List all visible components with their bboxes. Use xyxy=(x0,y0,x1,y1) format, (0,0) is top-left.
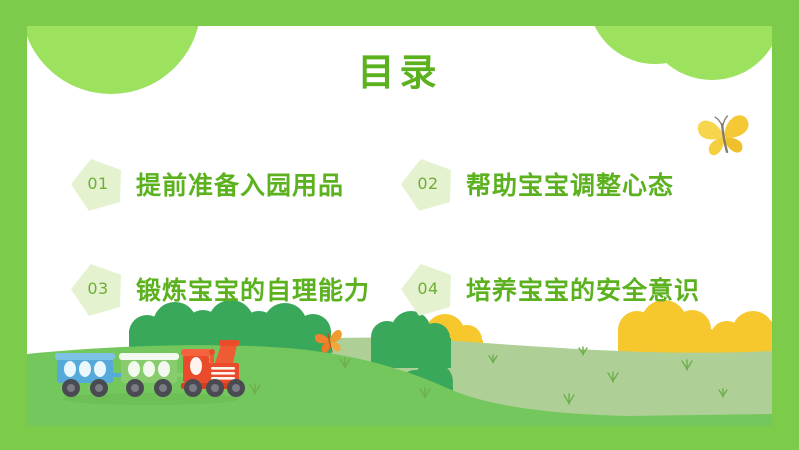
toc-item-01[interactable]: 01 提前准备入园用品 xyxy=(72,131,402,236)
toc-badge-02: 02 xyxy=(402,158,454,210)
toc-number-01: 01 xyxy=(87,174,108,193)
frame-border-top xyxy=(0,0,799,26)
frame-border-bottom xyxy=(0,426,799,450)
train-car-blue xyxy=(55,353,123,383)
toc-label-02: 帮助宝宝调整心态 xyxy=(466,166,674,202)
toc-item-04[interactable]: 04 培养宝宝的安全意识 xyxy=(402,236,737,341)
toc-number-04: 04 xyxy=(417,279,438,298)
slide-content-area: 目录 01 提前准备入园用品 xyxy=(27,26,772,426)
frame-border-right xyxy=(772,0,799,450)
train-car-green xyxy=(119,353,187,383)
toc-label-04: 培养宝宝的安全意识 xyxy=(466,271,700,307)
toc-label-03: 锻炼宝宝的自理能力 xyxy=(136,271,370,307)
page-title: 目录 xyxy=(27,42,772,96)
train-icon xyxy=(55,333,247,405)
toc-number-02: 02 xyxy=(417,174,438,193)
toc-label-01: 提前准备入园用品 xyxy=(136,166,344,202)
toc-item-03[interactable]: 03 锻炼宝宝的自理能力 xyxy=(72,236,402,341)
toc-badge-03: 03 xyxy=(72,263,124,315)
frame-border-left xyxy=(0,0,27,450)
toc-number-03: 03 xyxy=(87,279,108,298)
toc-badge-01: 01 xyxy=(72,158,124,210)
table-of-contents: 01 提前准备入园用品 02 帮助宝宝调整心态 03 锻炼宝宝的自理能力 xyxy=(72,131,737,341)
slide-canvas: 目录 01 提前准备入园用品 xyxy=(0,0,799,450)
butterfly-icon-top-right xyxy=(695,108,755,160)
toc-item-02[interactable]: 02 帮助宝宝调整心态 xyxy=(402,131,737,236)
toc-badge-04: 04 xyxy=(402,263,454,315)
